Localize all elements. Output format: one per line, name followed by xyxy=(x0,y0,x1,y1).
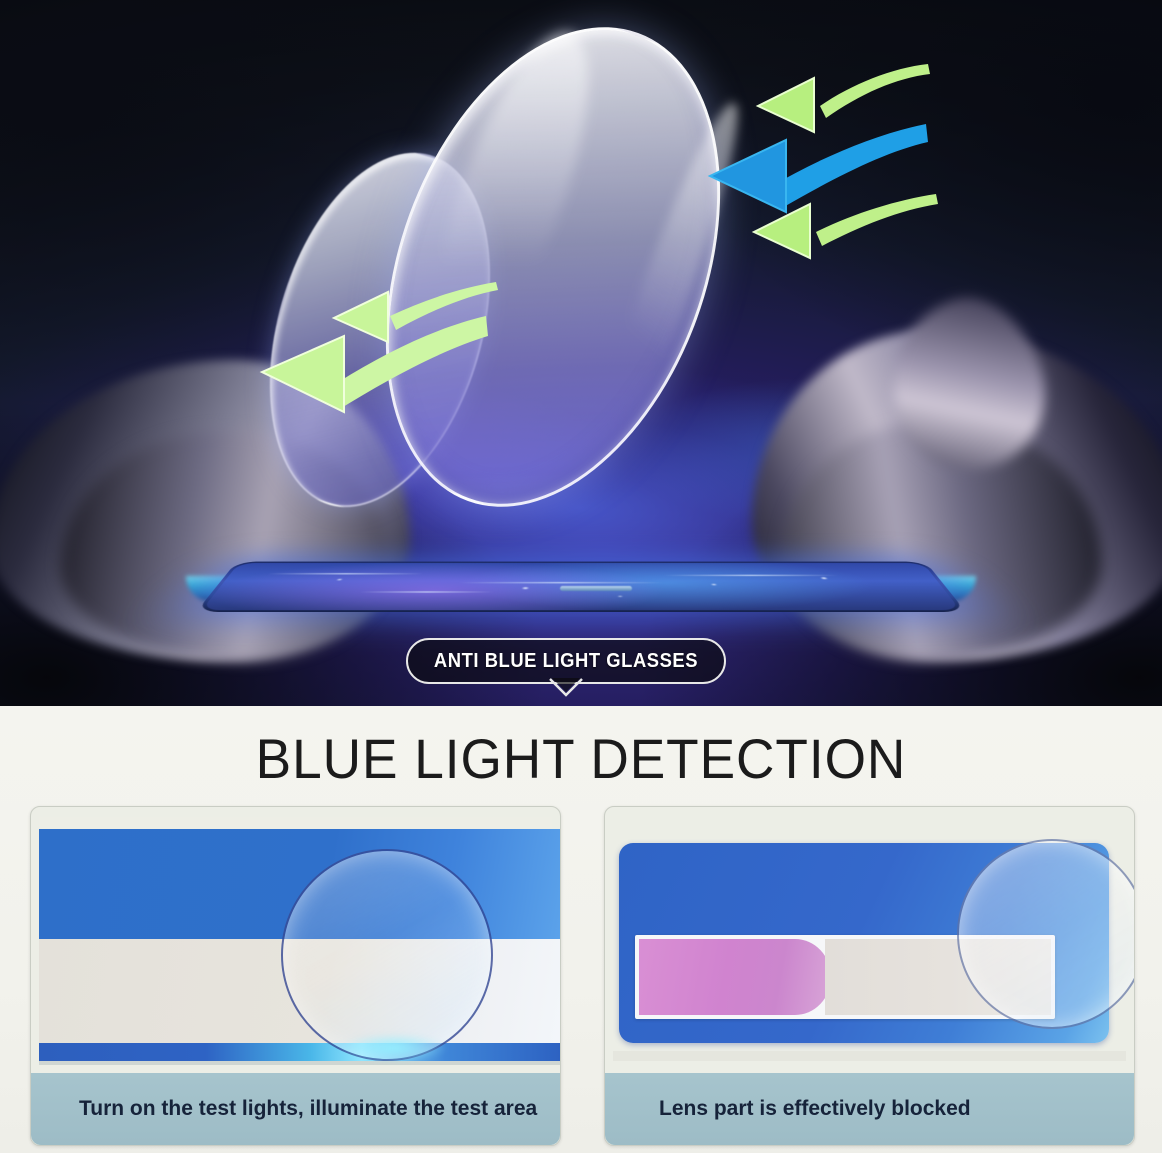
test-panel-left-scene xyxy=(31,807,560,1073)
panel-left-lens xyxy=(281,849,493,1061)
panel-left-base-line xyxy=(39,1061,560,1065)
panel-left-top-border xyxy=(39,817,552,829)
test-panel-right: Lens part is effectively blocked xyxy=(604,806,1135,1146)
test-panel-left-caption-bar: Turn on the test lights, illuminate the … xyxy=(31,1073,560,1145)
badge-pointer-icon xyxy=(549,678,583,698)
test-panel-right-scene xyxy=(605,807,1134,1073)
product-marketing-image: ANTI BLUE LIGHT GLASSES BLUE LIGHT DETEC… xyxy=(0,0,1162,1153)
panel-left-test-light-glow xyxy=(319,1031,469,1065)
phone-speaker-grille xyxy=(560,586,632,591)
hero-photo-section: ANTI BLUE LIGHT GLASSES xyxy=(0,0,1162,706)
panel-left-light-bar xyxy=(39,1043,560,1061)
green-arrow-lower-left-icon xyxy=(250,312,490,422)
test-panel-left-caption-text: Turn on the test lights, illuminate the … xyxy=(31,1097,553,1121)
panel-right-base-line xyxy=(613,1051,1126,1061)
test-panel-right-caption-bar: Lens part is effectively blocked xyxy=(605,1073,1134,1145)
anti-blue-light-badge: ANTI BLUE LIGHT GLASSES xyxy=(406,638,726,684)
page-title: BLUE LIGHT DETECTION xyxy=(29,726,1133,791)
panel-right-lens xyxy=(957,839,1134,1029)
test-panel-left: Turn on the test lights, illuminate the … xyxy=(30,806,561,1146)
panel-right-blue-light-detected-area xyxy=(639,939,831,1015)
green-arrow-lower-right-icon xyxy=(740,188,940,278)
test-panel-right-caption-text: Lens part is effectively blocked xyxy=(605,1097,987,1121)
detection-section: BLUE LIGHT DETECTION Turn on the test li… xyxy=(0,706,1162,1153)
